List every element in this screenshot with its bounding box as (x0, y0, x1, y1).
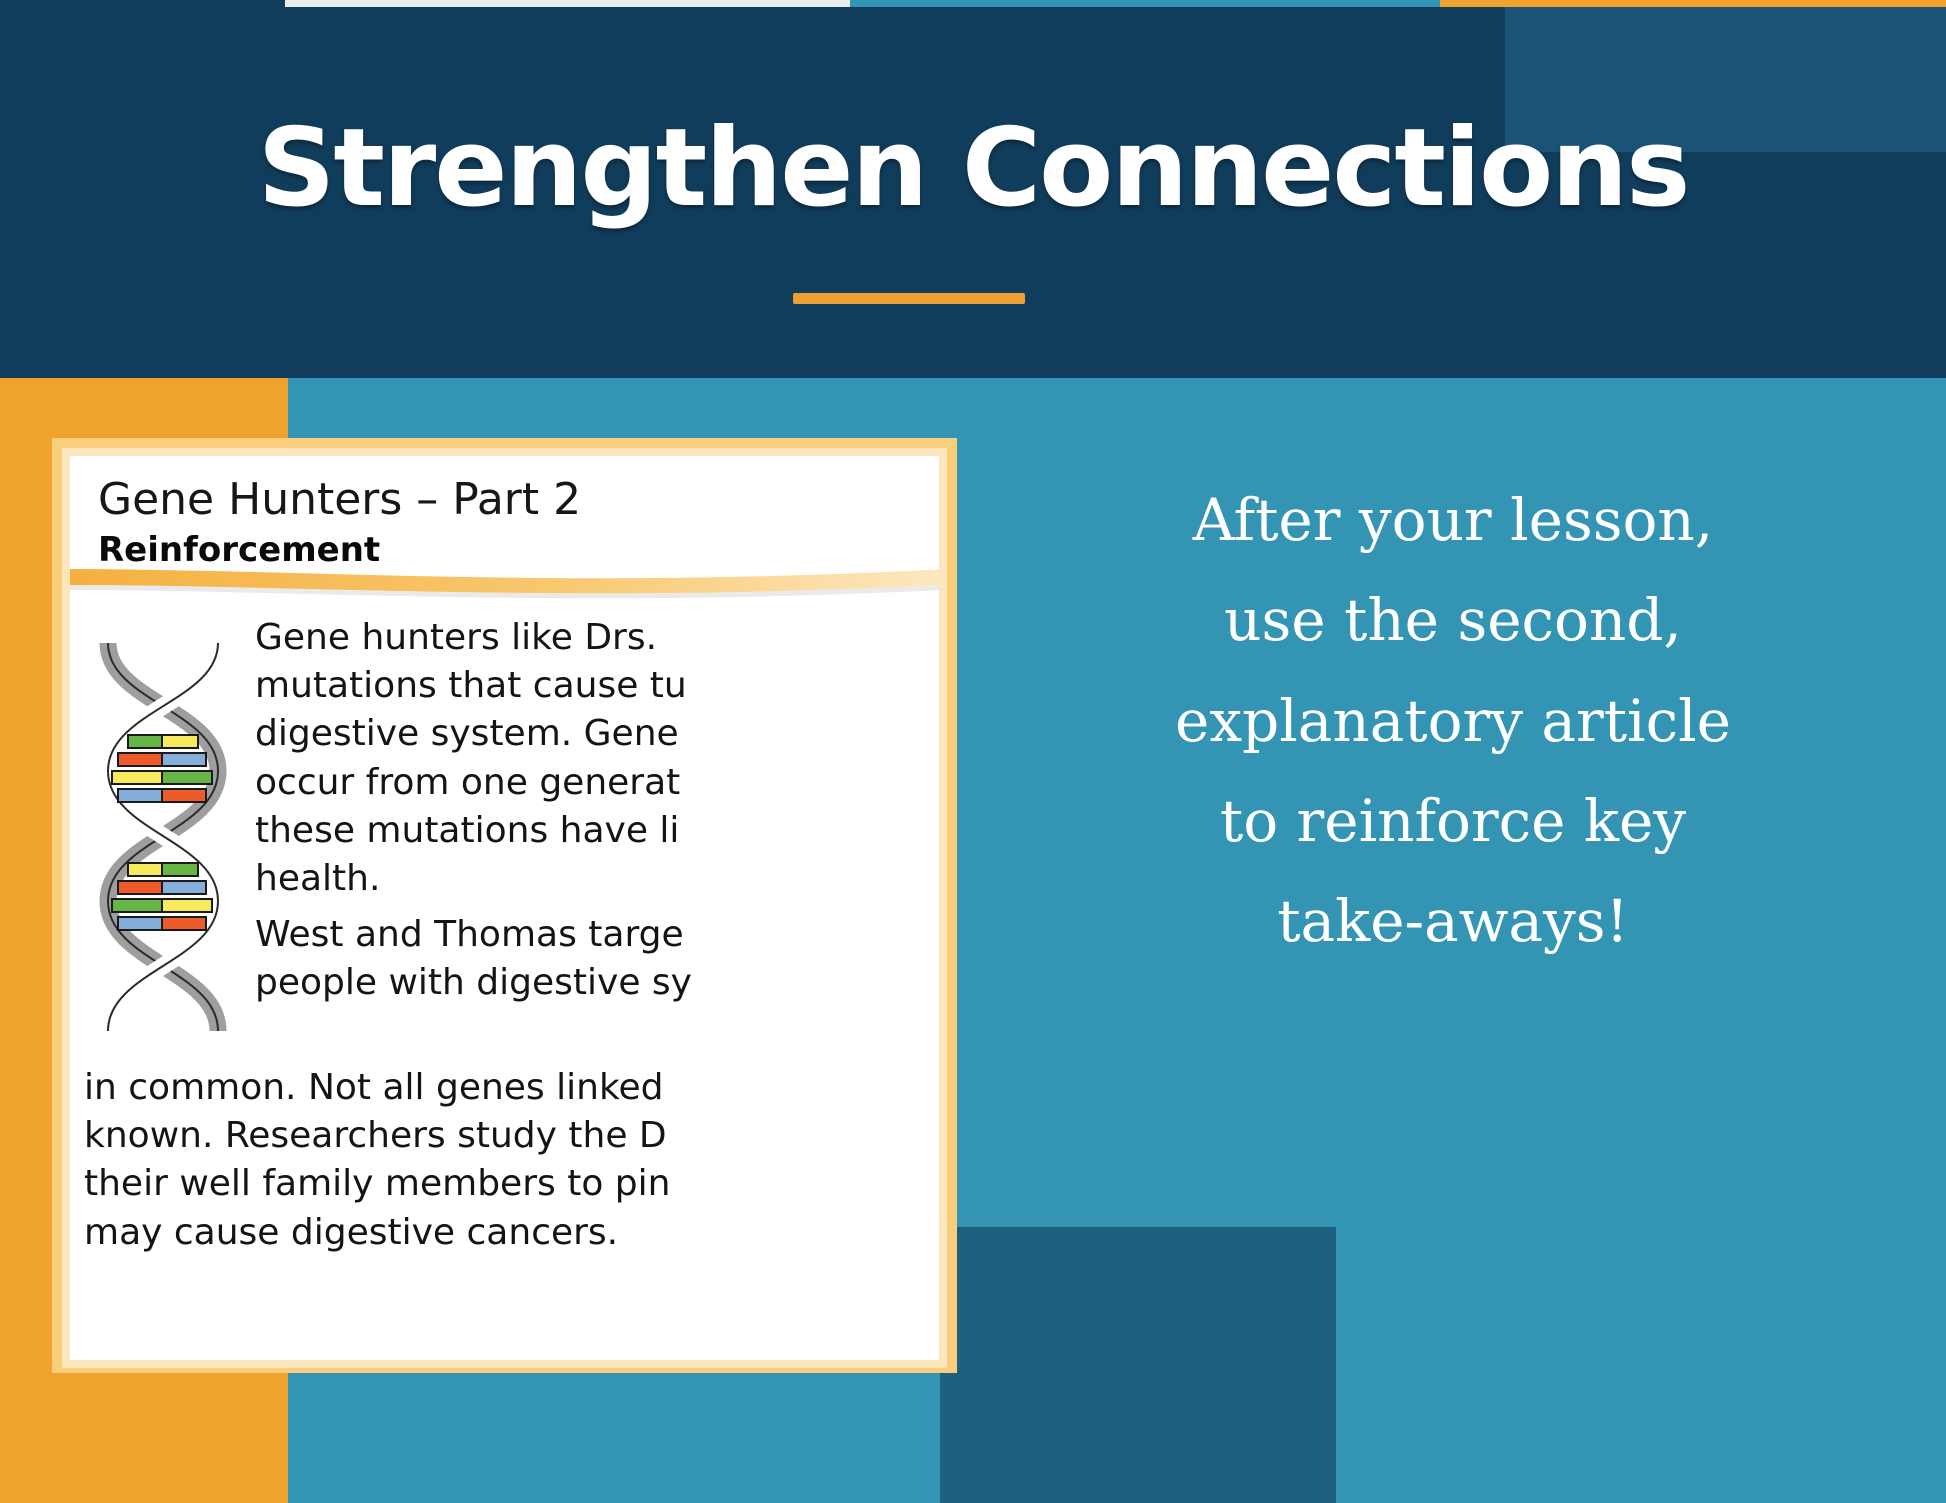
article-paragraph-3: in common. Not all genes linked known. R… (84, 1064, 939, 1257)
header-band: Strengthen Connections (0, 0, 1946, 378)
dna-helix-icon (90, 631, 235, 1051)
article-page: Gene Hunters – Part 2 Reinforcement (70, 456, 939, 1360)
top-strip-orange (1440, 0, 1946, 7)
background-dark-teal-rect (940, 1227, 1336, 1503)
top-strip-white (285, 0, 850, 7)
caption-line-3: explanatory article (960, 671, 1946, 771)
title-underline-rule (793, 293, 1025, 304)
caption-line-2: use the second, (960, 570, 1946, 670)
article-title: Gene Hunters – Part 2 (98, 474, 581, 525)
page-title: Strengthen Connections (0, 112, 1946, 225)
article-paragraph-1: Gene hunters like Drs. mutations that ca… (255, 614, 939, 903)
article-image-card[interactable]: Gene Hunters – Part 2 Reinforcement (62, 448, 947, 1368)
article-paragraph-2: West and Thomas targe people with digest… (255, 911, 939, 1007)
slide: Strengthen Connections Gene Hunters – Pa… (0, 0, 1946, 1503)
caption-line-1: After your lesson, (960, 470, 1946, 570)
article-swoosh-divider (70, 561, 939, 601)
caption-block: After your lesson, use the second, expla… (960, 470, 1946, 972)
caption-line-4: to reinforce key (960, 771, 1946, 871)
top-strip-teal (850, 0, 1440, 7)
caption-line-5: take-aways! (960, 871, 1946, 971)
